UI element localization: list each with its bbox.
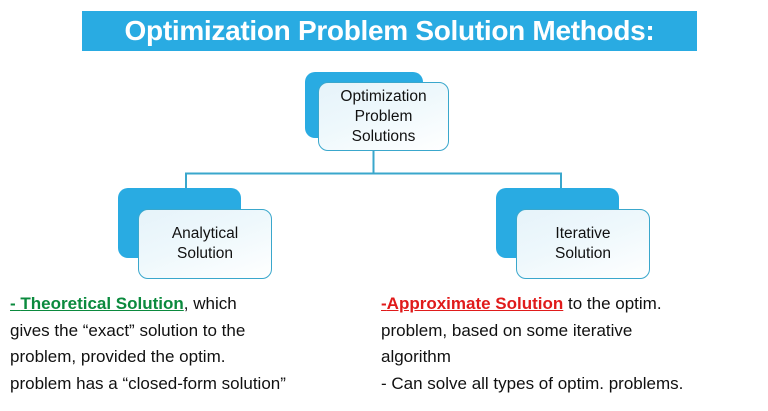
- note-dash: -: [10, 294, 20, 313]
- note-approximate-solution: -Approximate Solution to the optim. prob…: [381, 291, 766, 397]
- note-line: -Approximate Solution to the optim.: [381, 291, 766, 318]
- node-label: Iterative Solution: [555, 224, 611, 264]
- note-headword: Approximate Solution: [387, 294, 564, 313]
- note-line-rest: to the optim.: [563, 294, 661, 313]
- node-optimization-problem-solutions[interactable]: Optimization Problem Solutions: [305, 72, 450, 152]
- note-line: problem, provided the optim.: [10, 344, 365, 371]
- node-panel: Analytical Solution: [138, 209, 272, 279]
- node-panel: Iterative Solution: [516, 209, 650, 279]
- note-line: - Can solve all types of optim. problems…: [381, 371, 766, 398]
- note-theoretical-solution: - Theoretical Solution, which gives the …: [10, 291, 365, 397]
- note-line: problem has a “closed-form solution”: [10, 371, 365, 398]
- note-line: - Theoretical Solution, which: [10, 291, 365, 318]
- node-panel: Optimization Problem Solutions: [318, 82, 449, 151]
- note-line-rest: , which: [184, 294, 237, 313]
- note-line: problem, based on some iterative: [381, 318, 766, 345]
- page-title-banner: Optimization Problem Solution Methods:: [82, 11, 697, 51]
- note-headword: Theoretical Solution: [20, 294, 183, 313]
- node-iterative-solution[interactable]: Iterative Solution: [496, 188, 651, 280]
- note-line: algorithm: [381, 344, 766, 371]
- node-label: Analytical Solution: [172, 224, 238, 264]
- note-line: gives the “exact” solution to the: [10, 318, 365, 345]
- page-title: Optimization Problem Solution Methods:: [125, 15, 655, 47]
- node-label: Optimization Problem Solutions: [340, 87, 426, 147]
- node-analytical-solution[interactable]: Analytical Solution: [118, 188, 273, 280]
